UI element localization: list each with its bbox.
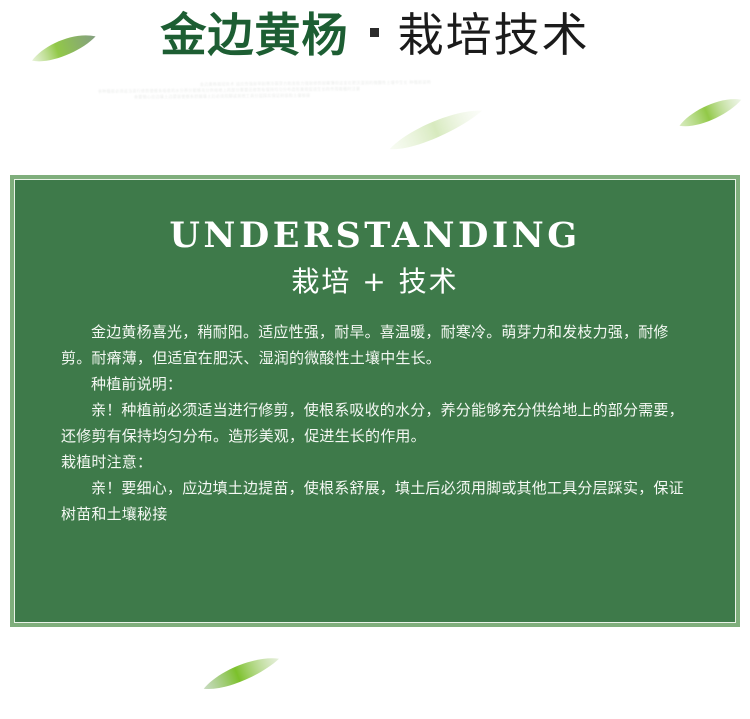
poster-header: 金边黄杨栽培技术 适应性强耐旱耐寒冷萌芽力和发枝力强耐修剪耐瘠薄但适宜在肥沃湿润… [0, 0, 750, 160]
page-title: 金边黄杨 栽培技术 [0, 12, 750, 58]
page-title-topic: 栽培技术 [398, 8, 590, 62]
panel-heading-english: UNDERSTANDING [15, 218, 735, 255]
panel-subheading-before-planting: 种植前说明： [61, 371, 691, 397]
page-title-plant-name: 金边黄杨 [160, 8, 348, 62]
leaf-bottom-center-icon [196, 648, 288, 700]
content-panel: UNDERSTANDING 栽培 + 技术 金边黄杨喜光，稍耐阳。适应性强，耐旱… [10, 175, 740, 627]
panel-heading: UNDERSTANDING 栽培 + 技术 [15, 180, 735, 300]
panel-paragraph-intro: 金边黄杨喜光，稍耐阳。适应性强，耐旱。喜温暖，耐寒冷。萌芽力和发枝力强，耐修剪。… [61, 319, 691, 371]
content-panel-inner: UNDERSTANDING 栽培 + 技术 金边黄杨喜光，稍耐阳。适应性强，耐旱… [14, 179, 736, 623]
title-separator-dot-icon [370, 28, 379, 37]
panel-paragraph-pruning: 亲！种植前必须适当进行修剪，使根系吸收的水分，养分能够充分供给地上的部分需要，还… [61, 397, 691, 449]
panel-heading-chinese: 栽培 + 技术 [15, 264, 735, 300]
panel-subheading-planting-notes: 栽植时注意： [61, 449, 691, 475]
panel-body: 金边黄杨喜光，稍耐阳。适应性强，耐旱。喜温暖，耐寒冷。萌芽力和发枝力强，耐修剪。… [61, 319, 691, 527]
panel-paragraph-planting: 亲！要细心，应边填土边提苗，使根系舒展，填土后必须用脚或其他工具分层踩实，保证树… [61, 475, 691, 527]
decorative-ghost-text: 金边黄杨栽培技术 适应性强耐旱耐寒冷萌芽力和发枝力强耐修剪耐瘠薄但适宜在肥沃湿润… [70, 77, 685, 109]
leaf-mid-center-icon [382, 104, 492, 156]
poster-root: 金边黄杨栽培技术 适应性强耐旱耐寒冷萌芽力和发枝力强耐修剪耐瘠薄但适宜在肥沃湿润… [0, 0, 750, 719]
